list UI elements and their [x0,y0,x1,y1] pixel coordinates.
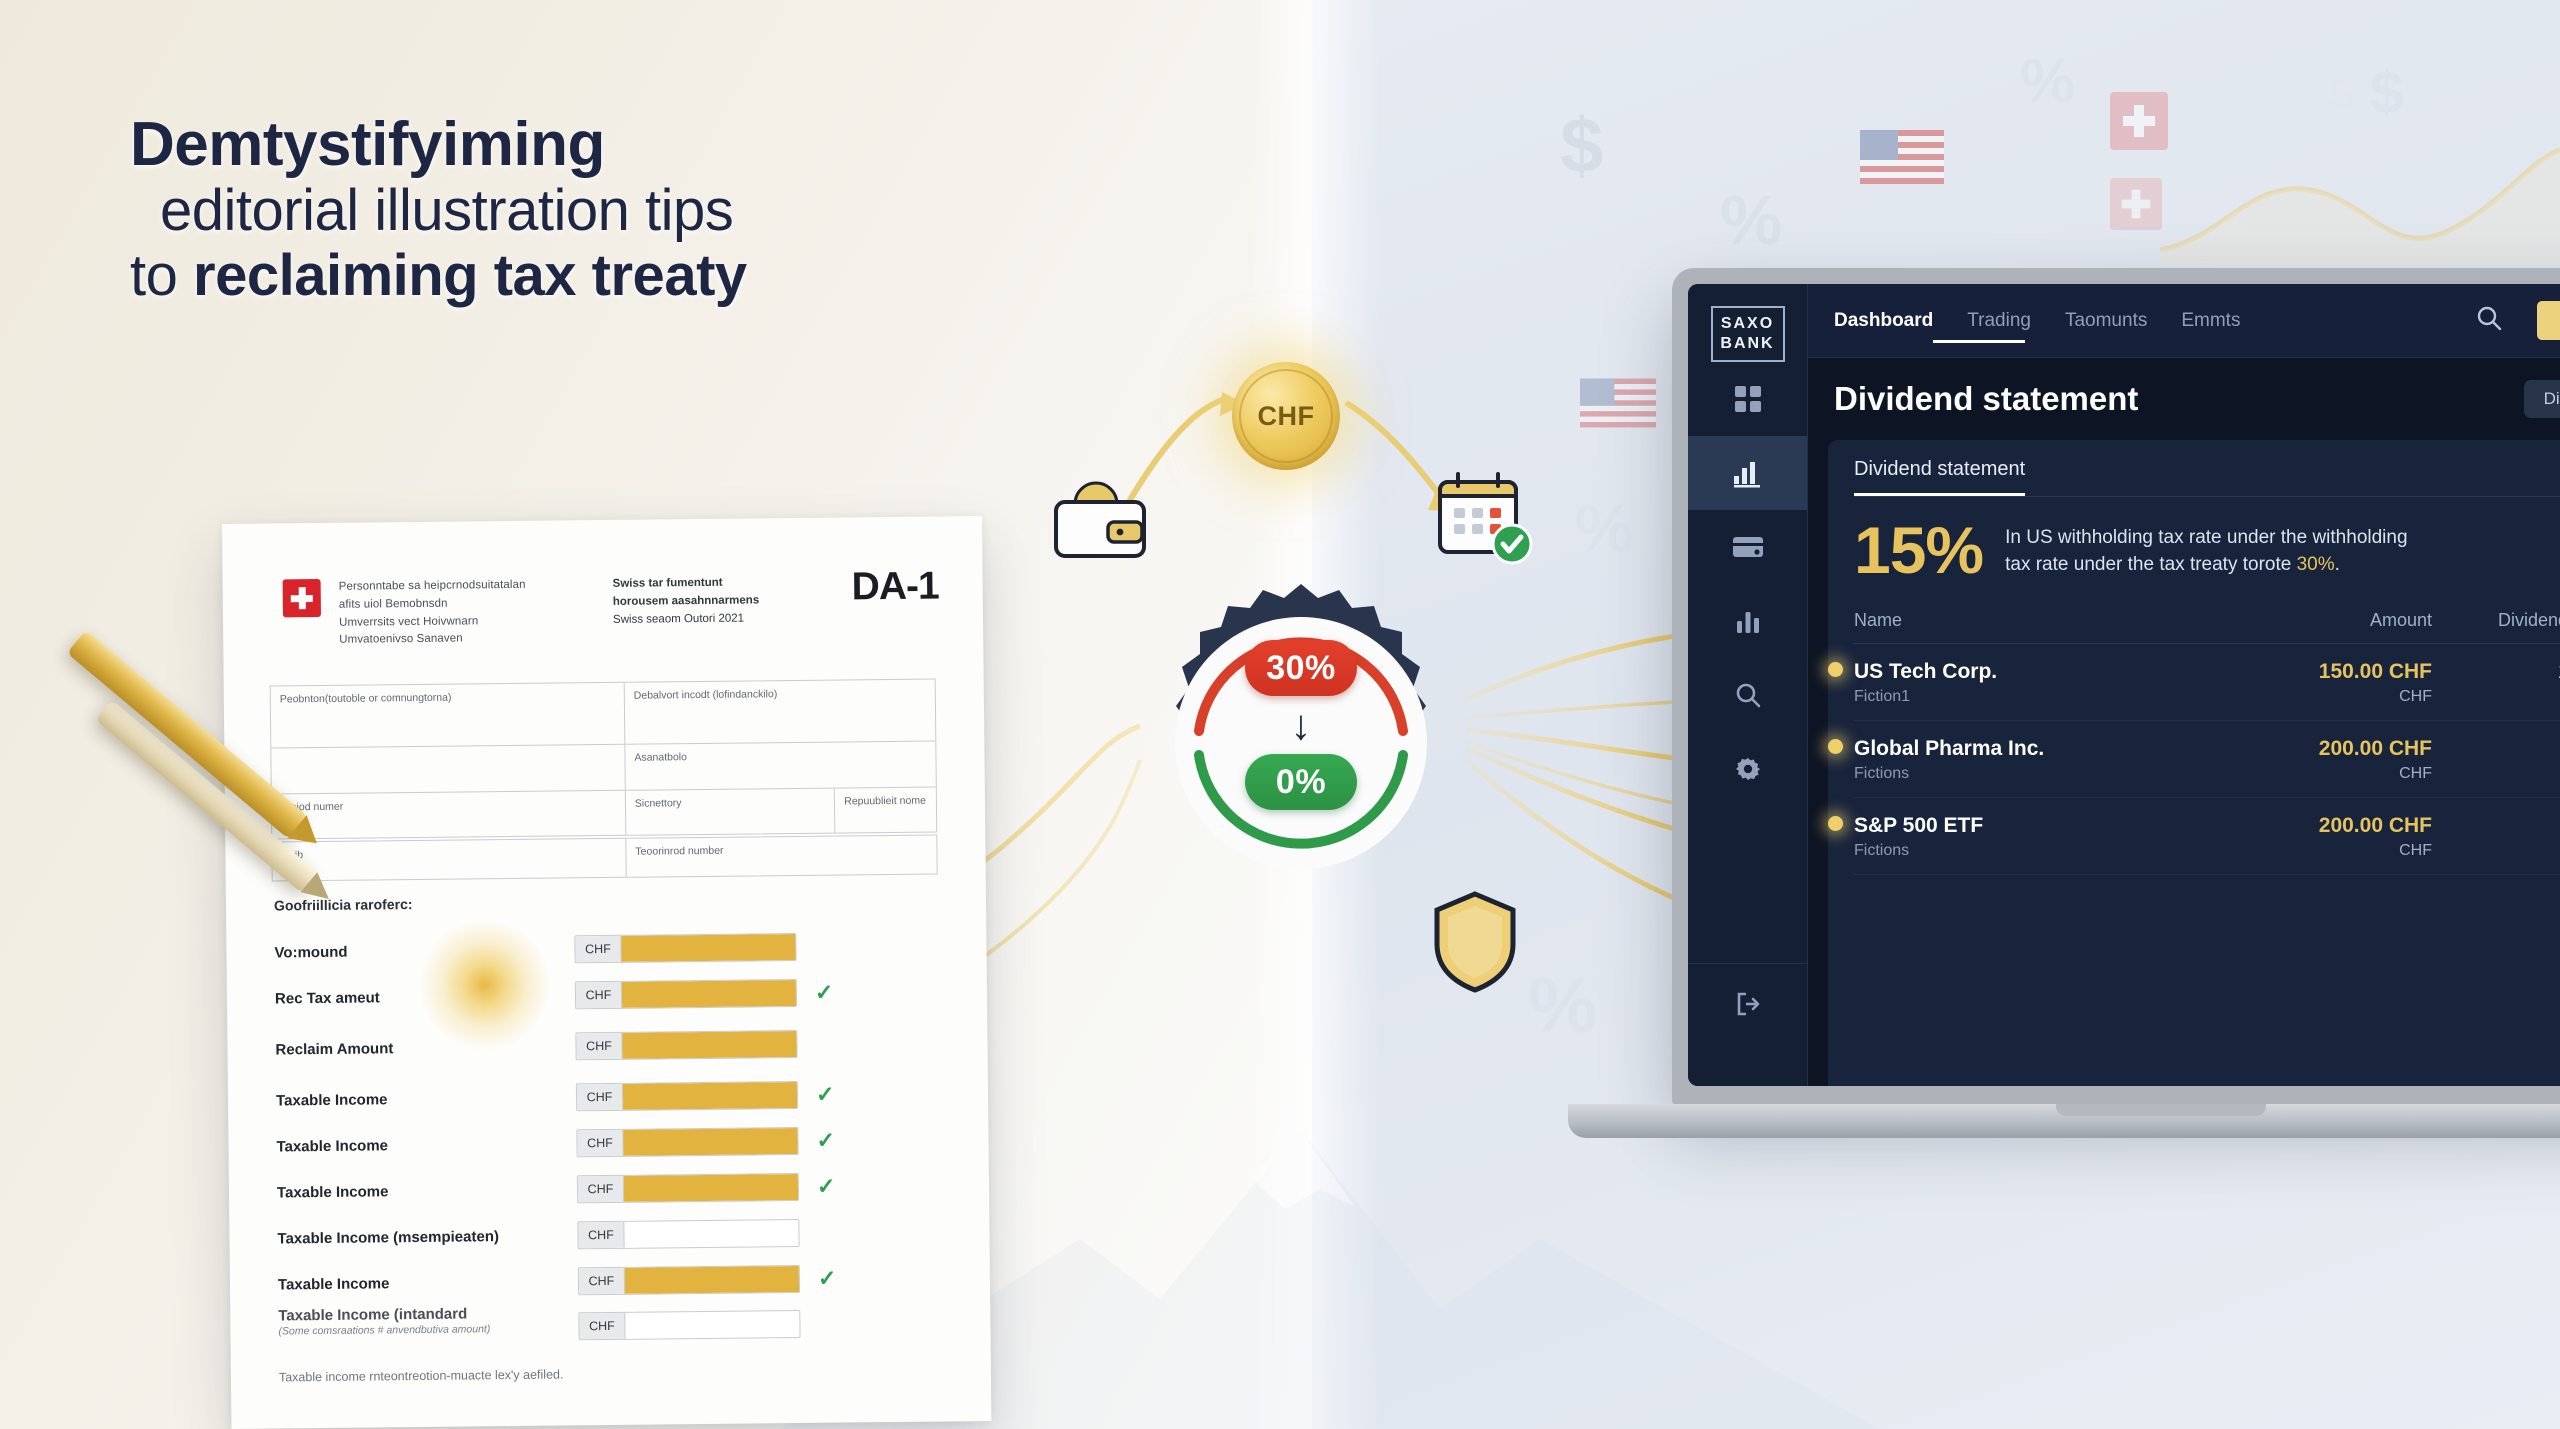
bar-chart-icon [1734,607,1762,635]
watermark-dollar-1: $ [1560,100,1603,191]
watermark-percent-4: % [1528,960,1597,1051]
form-subtitle-2: horousem aasahnnarmens [613,592,813,612]
row-change: -1.55% [2432,765,2560,783]
withholding-stat: 15% In US withholding tax rate under the… [1854,497,2560,600]
illustration-canvas: $ % % $ % % + $ [0,0,2560,1429]
form-grid-row: Asanatbolo [271,742,935,795]
page-action-pill[interactable]: Disorumgr [2524,380,2560,418]
amount-field[interactable]: CHF [576,1081,798,1111]
form-field-rows: Vo:mound CHF ✓ Rec Tax ameut CHF ✓ Recla… [274,922,946,1361]
row-amount-cell: 150.00 CHF CHF [2202,660,2432,706]
row-amount-currency: CHF [2202,765,2432,783]
headline-line-2: editorial illustration tips [160,179,1130,244]
panel-tabs: Dividend statement [1854,458,2560,497]
agency-line-2: afits uiol Bemobnsdn [339,595,526,615]
form-row-label-sub: (Some comsraations # anvendbutiva amount… [278,1322,578,1337]
form-grid-lower: Oxib Teoorinrod number [271,835,937,882]
gear-icon [1734,755,1762,783]
us-flag-watermark-icon [1860,130,1944,184]
swiss-flag-watermark-icon-2 [2110,178,2162,230]
check-icon: ✓ [815,982,834,1004]
form-cell-r2c2: Asanatbolo [625,742,936,791]
form-subtitle-3: Swiss seaom Outori 2021 [613,609,813,629]
form-grid-row: Peobnton(toutoble or comnungtorna) Debal… [271,680,936,749]
row-subtitle: Fiction1 [1854,688,2202,706]
column-header-name: Name [1854,610,2202,631]
row-amount-currency: CHF [2202,688,2432,706]
amount-field[interactable]: CHF [574,933,796,963]
row-name: US Tech Corp. [1854,660,2202,684]
sidebar-bottom [1688,963,1807,1030]
row-dividend-cell: 150.00 -1.55% [2432,660,2560,706]
row-marker-dot [1828,739,1843,754]
form-grid-row: Oxib Teoorinrod number [272,836,936,881]
column-header-dividend: Dividend (CHF) [2432,610,2560,631]
page-header: Dividend statement Disorumgr [1808,358,2560,428]
row-name-cell: S&P 500 ETF Fictions [1854,814,2202,860]
amount-field[interactable]: CHF [576,1127,798,1157]
card-icon [1732,535,1764,559]
agency-line-1: Personntabe sa heipcrnodsuitatalan [339,577,526,597]
form-subtitle-block: Swiss tar fumentunt horousem aasahnnarme… [613,574,814,630]
sidebar-item-cards[interactable] [1688,510,1807,584]
row-amount-currency: CHF [2202,842,2432,860]
agency-line-4: Umvatoenivso Sanaven [339,630,526,650]
form-row: Taxable Income CHF ✓ [276,1070,944,1123]
amount-field[interactable]: CHF [575,1030,797,1060]
check-icon: ✓ [817,1176,836,1198]
form-header: Personntabe sa heipcrnodsuitatalan afits… [283,573,934,651]
form-row: Taxable Income CHF ✓ [278,1254,946,1307]
form-section-title: Goofriillicia raroferc: [274,896,413,913]
da1-form-document: Personntabe sa heipcrnodsuitatalan afits… [222,516,991,1429]
form-row-label-text: Taxable Income (intandard [278,1305,467,1324]
brand-line-2: BANK [1720,334,1774,354]
saxo-bank-logo: SAXO BANK [1711,306,1785,362]
table-header-row: Name Amount Dividend (CHF) [1854,600,2560,644]
currency-prefix: CHF [577,1084,623,1110]
agency-block: Personntabe sa heipcrnodsuitatalan afits… [339,577,527,650]
row-name: Global Pharma Inc. [1854,737,2202,761]
tab-dividend-statement[interactable]: Dividend statement [1854,458,2025,496]
currency-prefix: CHF [579,1313,625,1339]
watermark-percent-3: % [1575,490,1634,566]
row-dividend: 30.00 [2432,814,2560,838]
laptop-notch [2056,1104,2266,1116]
nav-item-trading[interactable]: Trading [1967,310,2031,332]
row-dividend-cell: 30.00 +2.96% [2432,814,2560,860]
form-row: Taxable Income CHF ✓ [276,1116,944,1169]
form-footnote: Taxable income rnteontreotion-muacte lex… [279,1367,564,1384]
currency-prefix: CHF [578,1176,624,1202]
nav-item-dashboard[interactable]: Dashboard [1834,310,1933,332]
calendar-check-icon [1432,470,1534,566]
row-change: +2.96% [2432,842,2560,860]
us-flag-watermark-icon-2 [1580,378,1656,428]
form-row-label: Reclaim Amount [275,1038,575,1058]
sidebar-item-search[interactable] [1688,658,1807,732]
laptop-mockup: SAXO BANK [1672,268,2560,1208]
currency-prefix: CHF [576,982,622,1008]
table-row[interactable]: US Tech Corp. Fiction1 150.00 CHF CHF 15… [1854,644,2560,721]
page-headline: Demtystifyiming editorial illustration t… [130,110,1130,309]
primary-cta-button[interactable]: Unsera [2537,301,2560,340]
watermark-dollar-2: $ [2370,58,2403,127]
sidebar-item-analytics[interactable] [1688,436,1807,510]
check-icon: ✓ [818,1268,837,1290]
row-marker-dot [1828,816,1843,831]
grid-icon [1733,384,1763,414]
field-value [625,1266,799,1294]
amount-field[interactable]: CHF [578,1265,800,1295]
sidebar-item-reports[interactable] [1688,584,1807,658]
search-icon [1734,681,1762,709]
form-cell-r1c2: Debalvort incodt (lofindanckilo) [625,680,936,745]
stat-text-highlight: 30% [2297,554,2335,575]
sidebar-item-grid[interactable] [1688,362,1807,436]
headline-line-3-prefix: to [130,243,193,308]
row-amount: 200.00 CHF [2202,737,2432,761]
brand-line-1: SAXO [1721,314,1774,334]
form-subtitle-1: Swiss tar fumentunt [613,574,813,594]
area-chart-icon [1732,458,1764,488]
tax-rate-badge: 30% ↓ 0% [1136,578,1466,908]
check-icon: ✓ [816,1084,835,1106]
form-row: Rec Tax ameut CHF ✓ [275,968,943,1021]
row-amount-cell: 200.00 CHF CHF [2202,737,2432,783]
currency-prefix: CHF [578,1222,624,1248]
currency-prefix: CHF [576,1033,622,1059]
nav-search-button[interactable] [2475,304,2503,337]
form-row: Reclaim Amount CHF ✓ [275,1014,944,1077]
row-amount: 150.00 CHF [2202,660,2432,684]
form-row: Taxable Income (intandard (Some comsraat… [278,1300,947,1361]
row-change: -1.55% [2432,688,2560,706]
form-cell-r1c1: Peobnton(toutoble or comnungtorna) [271,683,626,749]
search-icon [2475,304,2503,332]
amount-field[interactable]: CHF [578,1310,800,1340]
dividend-panel: Dividend statement 15% In US withholding… [1828,440,2560,1086]
sidebar-item-logout[interactable] [1688,978,1807,1030]
form-row-label: Taxable Income [278,1273,578,1293]
form-cell-r3c3: Repuublieit nome [835,788,936,833]
field-value [624,1220,798,1248]
wallet-icon [1052,478,1154,560]
form-row-label: Taxable Income (msempieaten) [277,1227,577,1247]
form-row-label: Taxable Income [276,1135,576,1155]
logout-icon [1734,990,1762,1018]
form-row: Taxable Income CHF ✓ [277,1162,945,1215]
page-title: Dividend statement [1834,380,2138,418]
headline-line-3-bold: reclaiming tax treaty [193,243,747,308]
sidebar-item-settings[interactable] [1688,732,1807,806]
row-name-cell: US Tech Corp. Fiction1 [1854,660,2202,706]
rate-before-badge: 30% [1245,640,1357,696]
watermark-percent-1: % [1720,180,1782,260]
amount-field[interactable]: CHF [575,979,797,1009]
currency-prefix: CHF [579,1268,625,1294]
form-grid-row: Woiod numer Sicnettory Repuublieit nome [272,788,936,839]
field-value [625,1311,799,1339]
headline-line-3: to reclaiming tax treaty [130,244,1130,309]
row-dividend: 150.00 [2432,660,2560,684]
row-dividend-cell: 30.00 -1.55% [2432,737,2560,783]
highlight-glow [420,920,550,1050]
stat-description: In US withholding tax rate under the wit… [2005,519,2425,579]
coin-rim [1239,369,1333,463]
form-row: Taxable Income (msempieaten) CHF ✓ [277,1208,945,1261]
watermark-dollar-3: $ [2330,70,2354,120]
laptop-base [1568,1104,2560,1138]
chf-coin-icon: CHF [1232,362,1340,470]
top-navigation-bar: Dashboard Trading Taomunts Emmts Unsera [1808,284,2560,358]
form-row-label: Taxable Income (intandard (Some comsraat… [278,1304,578,1337]
form-grid-upper: Peobnton(toutoble or comnungtorna) Debal… [270,679,938,840]
row-subtitle: Fictions [1854,765,2202,783]
row-name: S&P 500 ETF [1854,814,2202,838]
form-row: Vo:mound CHF ✓ [274,922,942,975]
row-name-cell: Global Pharma Inc. Fictions [1854,737,2202,783]
down-arrow-icon: ↓ [1291,704,1312,746]
amount-field[interactable]: CHF [577,1173,799,1203]
field-value [621,934,795,962]
row-subtitle: Fictions [1854,842,2202,860]
dashboard-main: Dashboard Trading Taomunts Emmts Unsera [1808,284,2560,1086]
stat-text-before: In US withholding tax rate under the wit… [2005,527,2407,575]
row-amount-cell: 200.00 CHF CHF [2202,814,2432,860]
form-cell-r4c2: Teoorinrod number [626,836,936,877]
currency-prefix: CHF [577,1130,623,1156]
form-row-label: Taxable Income [277,1181,577,1201]
table-row[interactable]: Global Pharma Inc. Fictions 200.00 CHF C… [1854,721,2560,798]
form-code: DA-1 [851,564,938,609]
currency-prefix: CHF [575,936,621,962]
check-icon: ✓ [816,1130,835,1152]
row-amount: 200.00 CHF [2202,814,2432,838]
form-cell-r4c1: Oxib [272,839,626,881]
stat-value: 15% [1854,519,1983,582]
field-value [624,1174,798,1202]
form-cell-r2c1 [271,745,625,795]
column-header-amount: Amount [2202,610,2432,631]
table-row[interactable]: S&P 500 ETF Fictions 200.00 CHF CHF 30.0… [1854,798,2560,875]
nav-item-taomunts[interactable]: Taomunts [2065,310,2147,332]
row-dividend: 30.00 [2432,737,2560,761]
form-row-label: Taxable Income [276,1089,576,1109]
field-value [623,1082,797,1110]
amount-field[interactable]: CHF [577,1219,799,1249]
stat-text-after: . [2335,554,2340,575]
agency-line-3: Umverrsits vect Hoivwnarn [339,612,526,632]
form-cell-r3c2: Sicnettory [626,789,836,835]
swiss-flag-icon [283,579,321,617]
dashboard-screen: SAXO BANK [1688,284,2560,1086]
field-value [623,1128,797,1156]
row-marker-dot [1828,662,1843,677]
headline-line-1: Demtystifyiming [130,110,1130,179]
dashboard-sidebar: SAXO BANK [1688,284,1808,1086]
nav-item-emmts[interactable]: Emmts [2181,310,2240,332]
field-value [622,980,796,1008]
laptop-screen-shell: SAXO BANK [1672,268,2560,1106]
watermark-percent-2: % [2020,46,2075,117]
field-value [622,1031,796,1059]
line-chart-watermark-icon [2160,120,2560,280]
rate-after-badge: 0% [1245,754,1357,810]
